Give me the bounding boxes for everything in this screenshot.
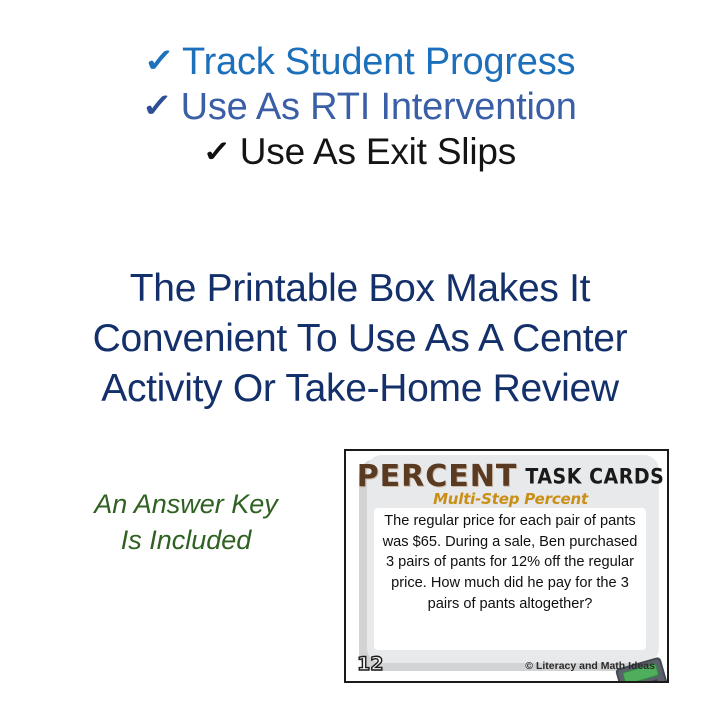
task-card-copyright: © Literacy and Math Ideas [525, 660, 655, 672]
task-card-problem-text: The regular price for each pair of pants… [380, 511, 640, 615]
answer-key-note: An Answer Key Is Included [52, 487, 320, 558]
task-card-number: 12 [357, 653, 383, 675]
task-card-preview: PERCENTTASK CARDS Multi-Step Percent The… [344, 449, 669, 683]
bullet-label: Use As Exit Slips [240, 131, 516, 172]
bullet-item-track-student-progress: ✓Track Student Progress [0, 42, 720, 83]
task-card-inner: PERCENTTASK CARDS Multi-Step Percent The… [348, 453, 665, 679]
task-card-header: PERCENTTASK CARDS [348, 459, 669, 494]
bullet-item-use-as-rti-intervention: ✓Use As RTI Intervention [0, 87, 720, 128]
bullet-item-use-as-exit-slips: ✓Use As Exit Slips [0, 132, 720, 172]
task-card-problem-panel: The regular price for each pair of pants… [374, 508, 646, 650]
headline-line-3: Activity Or Take-Home Review [0, 364, 720, 414]
bullet-label: Use As RTI Intervention [181, 86, 577, 128]
answer-key-line-2: Is Included [52, 523, 320, 559]
feature-bullet-list: ✓Track Student Progress ✓Use As RTI Inte… [0, 42, 720, 172]
answer-key-line-1: An Answer Key [52, 487, 320, 523]
page-title: The Printable Box Makes It Convenient To… [0, 264, 720, 414]
check-icon: ✓ [203, 136, 231, 168]
bullet-label: Track Student Progress [182, 41, 575, 83]
check-icon: ✓ [143, 44, 174, 79]
slide-canvas: ✓Track Student Progress ✓Use As RTI Inte… [0, 0, 720, 720]
task-card-subtitle: Multi-Step Percent [348, 490, 669, 508]
task-card-title-secondary: TASK CARDS [525, 464, 664, 489]
headline-line-1: The Printable Box Makes It [0, 264, 720, 314]
headline-line-2: Convenient To Use As A Center [0, 314, 720, 364]
task-card-title-main: PERCENT [357, 459, 518, 494]
check-icon: ✓ [142, 89, 173, 124]
